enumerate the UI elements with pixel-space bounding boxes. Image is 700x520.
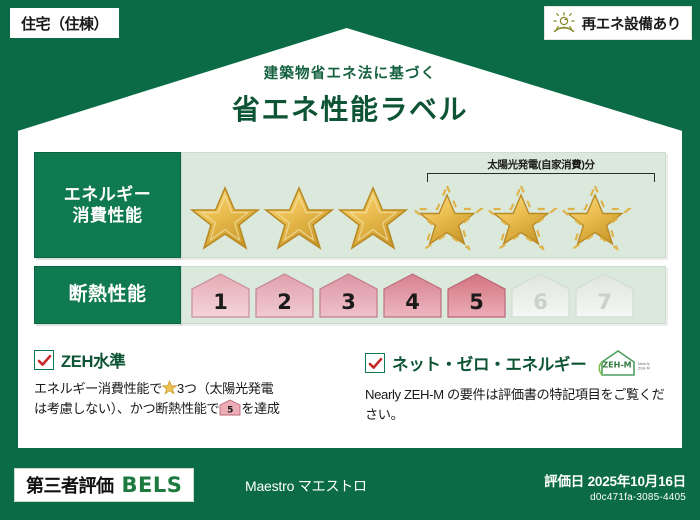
maestro-brand-label: Maestro マエストロ — [245, 476, 367, 496]
check-icon — [368, 356, 383, 371]
zeh-standard-heading-row: ZEH水準 — [34, 348, 339, 372]
energy-key-line-1: エネルギー — [64, 184, 152, 205]
title-area: 建築物省エネ法に基づく 省エネ性能ラベル — [0, 62, 700, 128]
insulation-level-7-icon: 7 — [574, 272, 635, 320]
evaluation-id: d0c471fa-3085-4405 — [544, 492, 686, 503]
footer: 第三者評価 BELS Maestro マエストロ 評価日 2025年10月16日… — [0, 460, 700, 520]
evaluation-info: 評価日 2025年10月16日 d0c471fa-3085-4405 — [544, 470, 686, 503]
solar-contribution-bracket: 太陽光発電(自家消費)分 — [427, 157, 655, 182]
zeh-standard-body: エネルギー消費性能で3つ（太陽光発電は考慮しない）、かつ断熱性能で5を達成 — [34, 379, 339, 420]
zeh-body-part-1: エネルギー消費性能で — [34, 381, 162, 396]
insulation-level-6-icon: 6 — [510, 272, 571, 320]
zeh-standard-checkbox — [34, 350, 54, 370]
star-icon-solid — [188, 181, 262, 253]
insulation-level-3-value: 3 — [341, 290, 356, 314]
insulation-level-4-value: 4 — [405, 290, 420, 314]
notes-area: ZEH水準 エネルギー消費性能で3つ（太陽光発電は考慮しない）、かつ断熱性能で5… — [34, 348, 668, 426]
star-icon-solar — [484, 181, 558, 253]
category-tag: 住宅（住棟） — [8, 6, 121, 40]
star-icon-solar — [410, 181, 484, 253]
insulation-performance-value: 1 2 3 4 5 — [181, 266, 666, 324]
category-tag-label: 住宅（住棟） — [21, 13, 108, 34]
star-rating-group — [188, 181, 632, 253]
energy-performance-value: 太陽光発電(自家消費)分 — [181, 152, 666, 258]
insulation-level-7-value: 7 — [597, 290, 612, 314]
solar-bracket-label: 太陽光発電(自家消費)分 — [427, 157, 655, 172]
insulation-level-group: 1 2 3 4 5 — [190, 272, 635, 320]
insulation-performance-key: 断熱性能 — [34, 266, 181, 324]
renewable-badge-label: 再エネ設備あり — [582, 13, 681, 34]
bels-certification-box: 第三者評価 BELS — [14, 468, 194, 502]
insulation-level-4-icon: 4 — [382, 272, 443, 320]
zeh-m-logo-text: ZEH-M — [603, 361, 632, 370]
renewable-energy-badge: 再エネ設備あり — [544, 6, 692, 40]
third-party-evaluation-label: 第三者評価 — [26, 472, 114, 498]
page-title: 省エネ性能ラベル — [0, 88, 700, 128]
rating-rows: エネルギー 消費性能 太陽光発電(自家消費)分 — [34, 152, 666, 332]
inline-insulation-house-icon: 5 — [219, 399, 241, 416]
star-icon-solid — [262, 181, 336, 253]
insulation-level-2-icon: 2 — [254, 272, 315, 320]
net-zero-heading: ネット・ゼロ・エネルギー — [392, 351, 586, 375]
title-subtitle: 建築物省エネ法に基づく — [0, 62, 700, 83]
zeh-m-logo-sub-2: ZEH-M — [638, 367, 650, 371]
net-zero-energy-note: ネット・ゼロ・エネルギー ZEH-M Nearly ZEH-M Nearly Z… — [351, 348, 668, 426]
insulation-level-5-icon: 5 — [446, 272, 507, 320]
zeh-body-part-3: は考慮しない）、かつ断熱性能で — [34, 401, 219, 416]
insulation-level-2-value: 2 — [277, 290, 292, 314]
zeh-body-part-4: を達成 — [241, 401, 279, 416]
check-icon — [37, 353, 52, 368]
insulation-level-1-value: 1 — [213, 290, 228, 314]
energy-key-line-2: 消費性能 — [73, 205, 143, 226]
insulation-level-5-value: 5 — [469, 290, 484, 314]
insulation-level-6-value: 6 — [533, 290, 548, 314]
inline-star-icon — [162, 380, 177, 395]
insulation-level-3-icon: 3 — [318, 272, 379, 320]
zeh-standard-note: ZEH水準 エネルギー消費性能で3つ（太陽光発電は考慮しない）、かつ断熱性能で5… — [34, 348, 351, 426]
zeh-m-logo-icon: ZEH-M Nearly ZEH-M — [597, 348, 655, 378]
net-zero-checkbox — [365, 353, 385, 373]
star-icon-solid — [336, 181, 410, 253]
sun-renewable-icon — [551, 11, 577, 35]
insulation-performance-row: 断熱性能 1 — [34, 266, 666, 324]
insulation-key-label: 断熱性能 — [68, 283, 146, 307]
zeh-m-logo-sub-1: Nearly — [638, 362, 651, 366]
energy-performance-key: エネルギー 消費性能 — [34, 152, 181, 258]
zeh-body-part-2: 3つ（太陽光発電 — [177, 381, 273, 396]
evaluation-date: 評価日 2025年10月16日 — [544, 470, 686, 490]
zeh-standard-heading: ZEH水準 — [61, 348, 126, 372]
bels-logo-text: BELS — [122, 473, 183, 497]
insulation-level-1-icon: 1 — [190, 272, 251, 320]
inline-insulation-value: 5 — [227, 406, 233, 416]
star-icon-solar — [558, 181, 632, 253]
net-zero-heading-row: ネット・ゼロ・エネルギー ZEH-M Nearly ZEH-M — [365, 348, 668, 378]
net-zero-body: Nearly ZEH-M の要件は評価書の特記項目をご覧ください。 — [365, 385, 668, 426]
energy-performance-row: エネルギー 消費性能 太陽光発電(自家消費)分 — [34, 152, 666, 258]
energy-performance-label: 住宅（住棟） 再エネ設備あり 建築物省エネ法に基づく 省エネ性能ラベル エネルギ… — [0, 0, 700, 520]
